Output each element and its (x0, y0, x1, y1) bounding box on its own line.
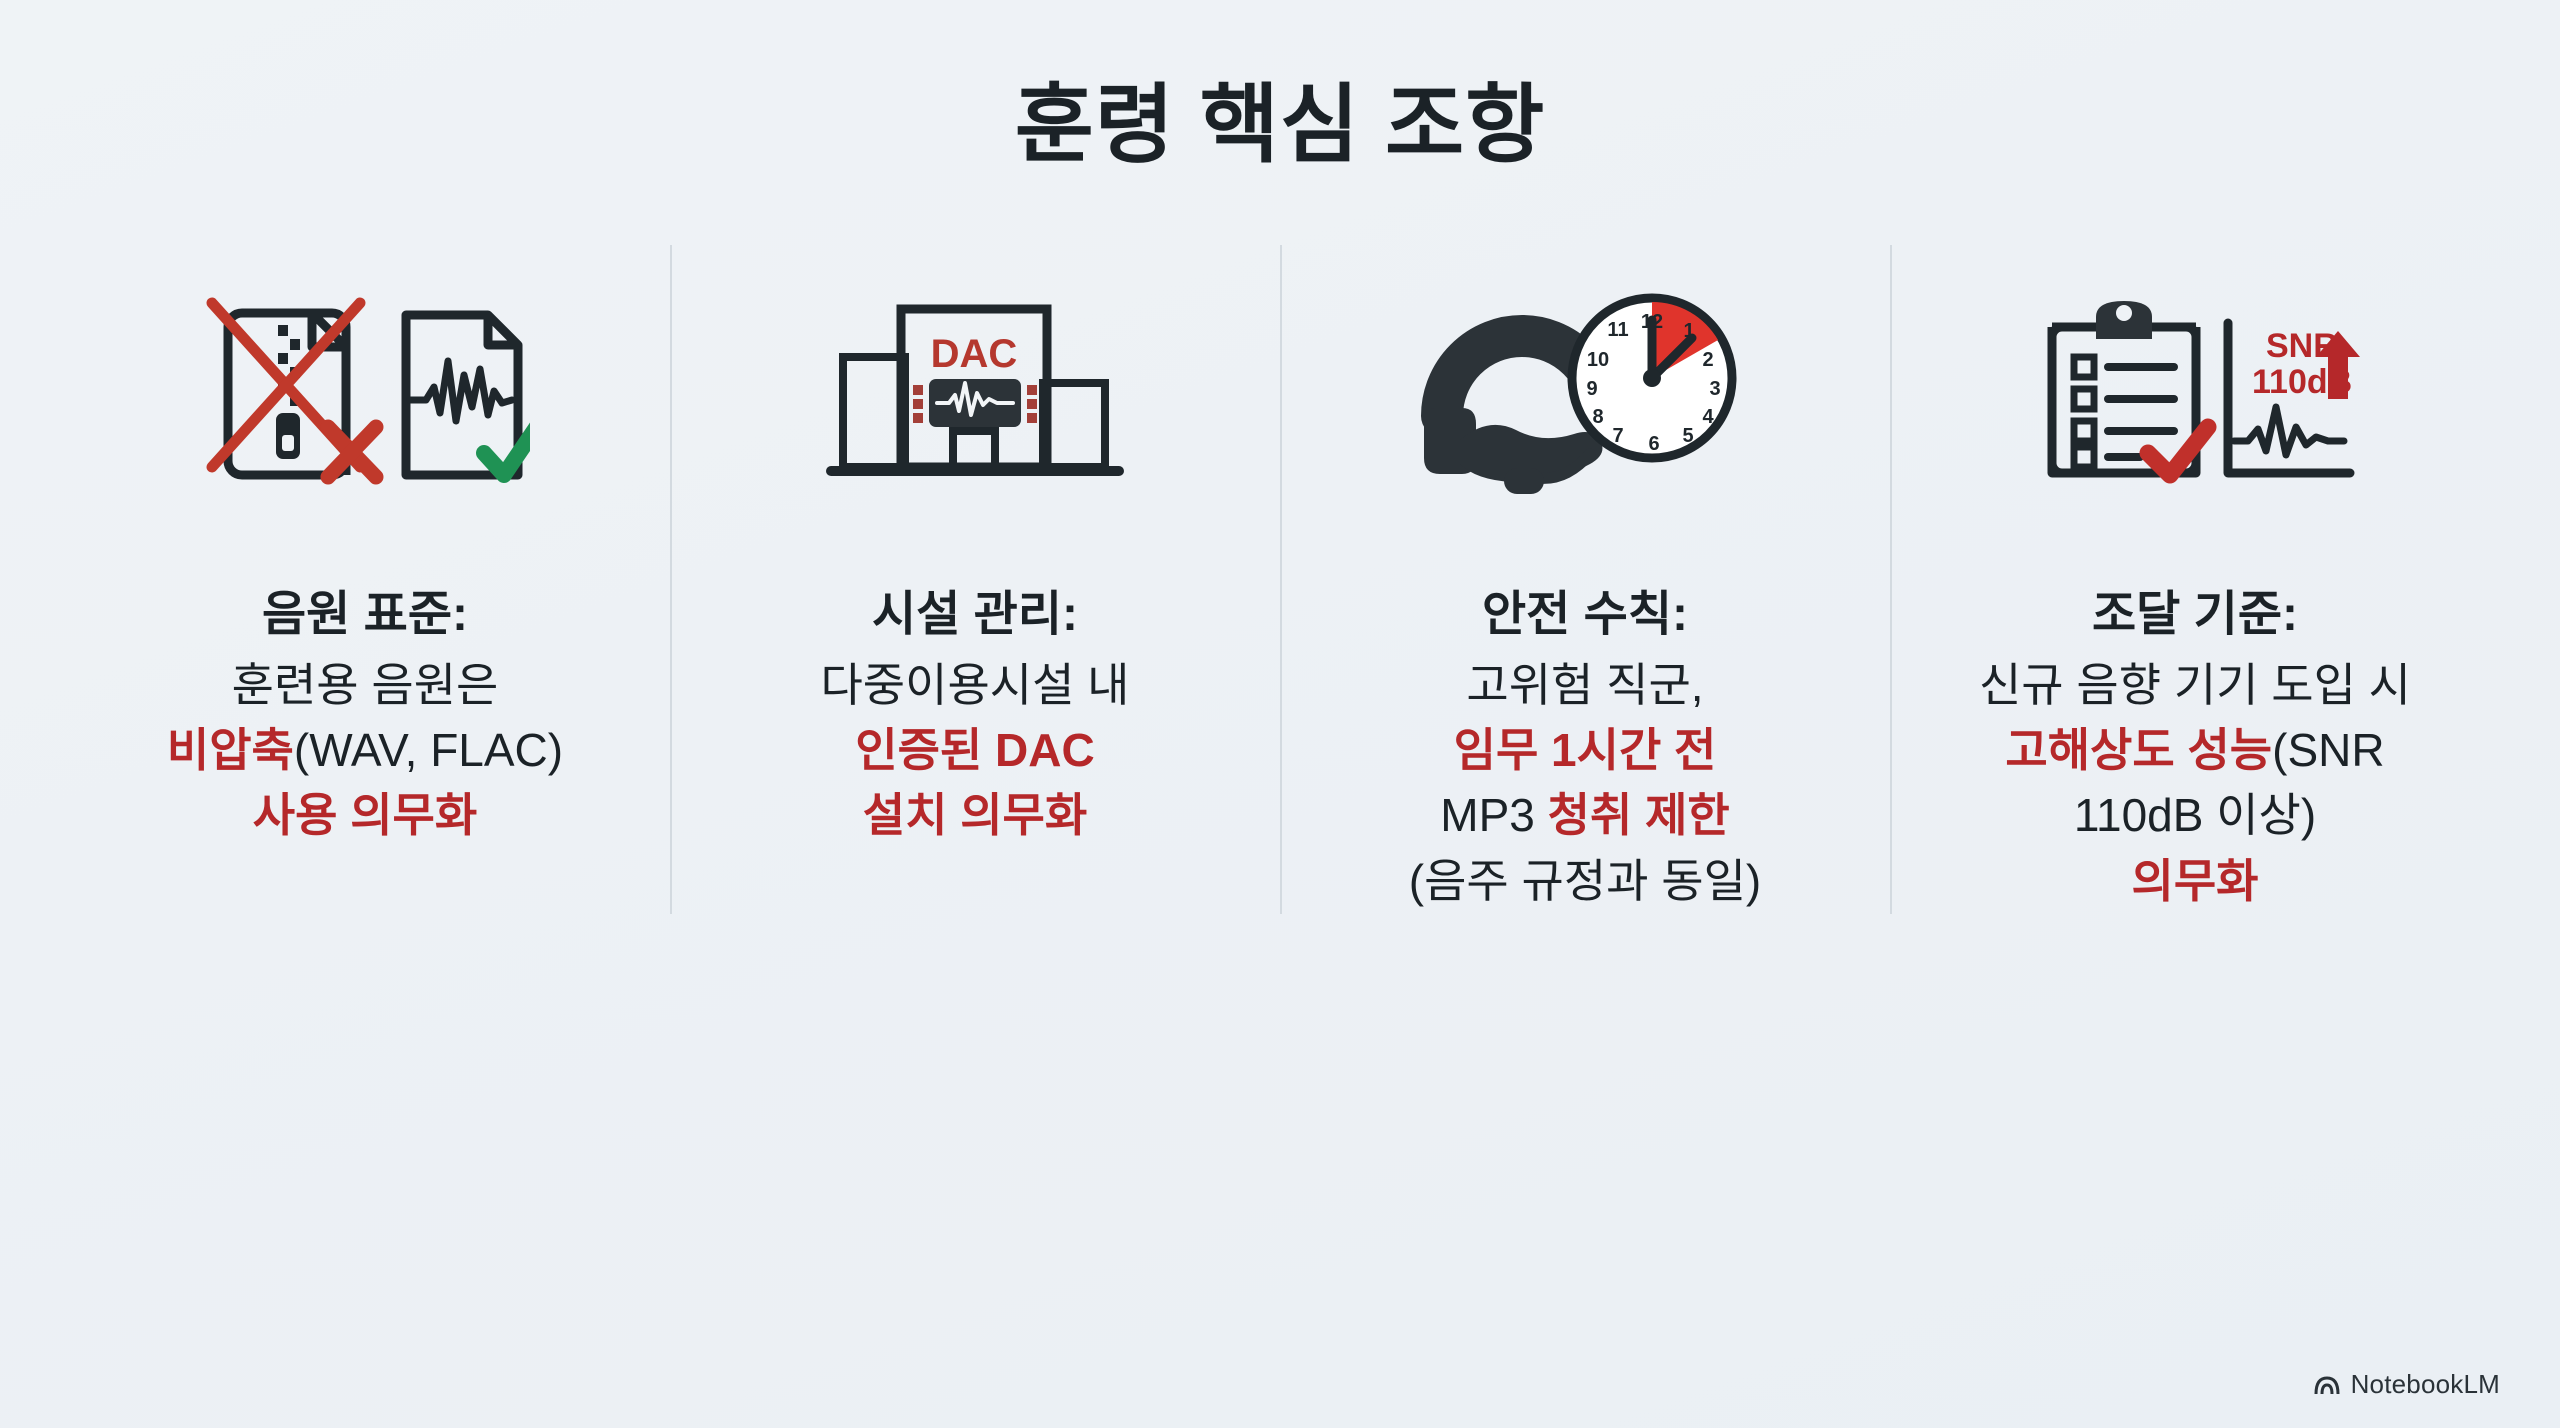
certified-dac-facility-icon: DAC (825, 295, 1125, 495)
column-line: 의무화 (1916, 849, 2474, 914)
column-line: 비압축(WAV, FLAC) (86, 718, 644, 783)
headset-clock-listening-limit-icon: 12 1 2 3 4 5 6 7 8 9 10 11 (1420, 290, 1750, 500)
svg-text:2: 2 (1702, 349, 1713, 371)
column-heading: 안전 수칙: (1306, 581, 1864, 649)
notebooklm-logo-icon (2313, 1373, 2341, 1397)
svg-text:9: 9 (1586, 378, 1597, 400)
page-title: 훈령 핵심 조항 (0, 0, 2560, 173)
column-heading: 시설 관리: (696, 581, 1254, 649)
column-text-facility: 시설 관리: 다중이용시설 내 인증된 DAC 설치 의무화 (696, 581, 1254, 849)
column-facility-management: DAC 시설 관리: 다중이용시설 내 인증된 DAC 설치 의무화 (670, 245, 1280, 914)
svg-text:11: 11 (1607, 319, 1628, 341)
column-heading: 조달 기준: (1916, 581, 2474, 649)
column-line: 인증된 DAC (696, 718, 1254, 783)
feature-columns: 음원 표준: 훈련용 음원은 비압축(WAV, FLAC) 사용 의무화 DAC (0, 245, 2560, 914)
icon-area-procurement: SNR 110dB (1916, 245, 2474, 545)
svg-text:6: 6 (1648, 433, 1659, 455)
column-line: 임무 1시간 전 (1306, 718, 1864, 783)
icon-area-safety: 12 1 2 3 4 5 6 7 8 9 10 11 (1306, 245, 1864, 545)
column-text-procurement: 조달 기준: 신규 음향 기기 도입 시 고해상도 성능(SNR 110dB 이… (1916, 581, 2474, 914)
svg-text:7: 7 (1612, 425, 1623, 447)
svg-text:5: 5 (1682, 425, 1693, 447)
column-line: 고해상도 성능(SNR (1916, 718, 2474, 783)
icon-area-audio-standard (86, 245, 644, 545)
column-text-safety: 안전 수칙: 고위험 직군, 임무 1시간 전 MP3 청취 제한 (음주 규정… (1306, 581, 1864, 914)
svg-text:3: 3 (1709, 378, 1720, 400)
svg-text:4: 4 (1702, 406, 1714, 428)
red-x-icon (328, 427, 376, 477)
column-line: 사용 의무화 (86, 783, 644, 848)
svg-text:10: 10 (1587, 349, 1609, 371)
column-audio-standard: 음원 표준: 훈련용 음원은 비압축(WAV, FLAC) 사용 의무화 (60, 245, 670, 914)
column-heading: 음원 표준: (86, 581, 644, 649)
icon-area-facility: DAC (696, 245, 1254, 545)
column-line: 신규 음향 기기 도입 시 (1916, 653, 2474, 718)
column-procurement-standard: SNR 110dB 조달 기준: 신규 음향 기기 도입 시 고해상도 성능(S… (1890, 245, 2500, 914)
checklist-rows (2074, 357, 2174, 467)
column-safety-rules: 12 1 2 3 4 5 6 7 8 9 10 11 (1280, 245, 1890, 914)
column-text-audio-standard: 음원 표준: 훈련용 음원은 비압축(WAV, FLAC) 사용 의무화 (86, 581, 644, 849)
column-line: 110dB 이상) (1916, 783, 2474, 848)
column-line: (음주 규정과 동일) (1306, 849, 1864, 914)
column-line: 훈련용 음원은 (86, 653, 644, 718)
column-line: MP3 청취 제한 (1306, 783, 1864, 848)
column-line: 고위험 직군, (1306, 653, 1864, 718)
svg-text:8: 8 (1592, 406, 1603, 428)
green-check-icon (484, 425, 530, 475)
procurement-checklist-snr-icon: SNR 110dB (2030, 295, 2360, 495)
column-line: 설치 의무화 (696, 783, 1254, 848)
column-line: 다중이용시설 내 (696, 653, 1254, 718)
dac-label: DAC (931, 332, 1018, 376)
notebooklm-watermark: NotebookLM (2313, 1369, 2500, 1400)
no-compression-audio-icon (200, 295, 530, 495)
notebooklm-label: NotebookLM (2351, 1369, 2500, 1400)
